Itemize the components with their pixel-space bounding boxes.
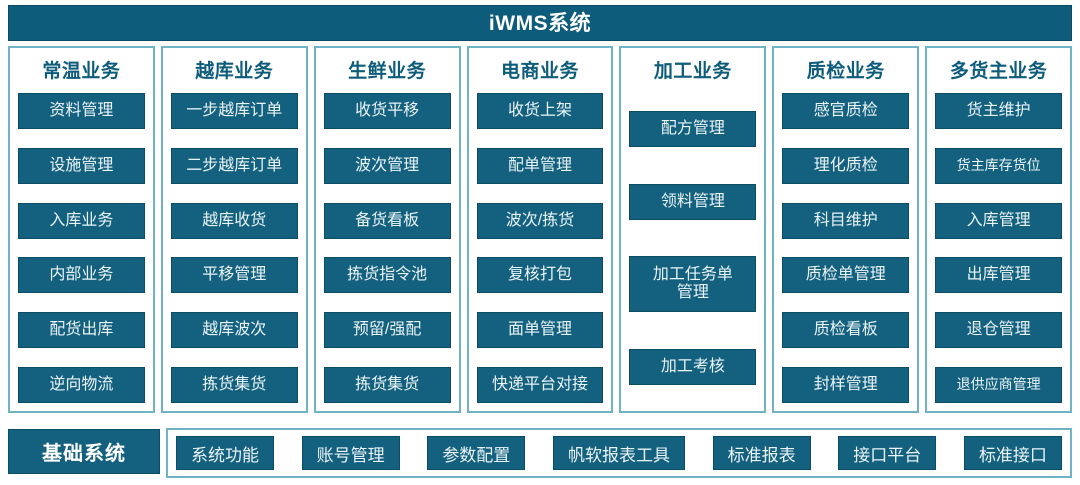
module-tile[interactable]: 领料管理 <box>629 184 756 220</box>
column-item-list: 一步越库订单二步越库订单越库收货平移管理越库波次拣货集货 <box>171 93 298 403</box>
system-title-bar: iWMS系统 <box>8 5 1072 41</box>
module-tile[interactable]: 货主库存货位 <box>935 148 1062 184</box>
column-title: 质检业务 <box>782 55 909 93</box>
business-column-processing: 加工业务配方管理领料管理加工任务单 管理加工考核 <box>619 46 766 413</box>
module-tile[interactable]: 二步越库订单 <box>171 148 298 184</box>
iwms-architecture-diagram: iWMS系统 常温业务资料管理设施管理入库业务内部业务配货出库逆向物流越库业务一… <box>0 0 1080 485</box>
column-item-list: 配方管理领料管理加工任务单 管理加工考核 <box>629 93 756 403</box>
base-system-button[interactable]: 账号管理 <box>302 436 400 470</box>
business-column-ecommerce: 电商业务收货上架配单管理波次/拣货复核打包面单管理快递平台对接 <box>467 46 614 413</box>
module-tile[interactable]: 预留/强配 <box>324 312 451 348</box>
column-item-list: 货主维护货主库存货位入库管理出库管理退仓管理退供应商管理 <box>935 93 1062 403</box>
base-system-button[interactable]: 标准接口 <box>964 436 1062 470</box>
module-tile[interactable]: 波次/拣货 <box>477 203 604 239</box>
module-tile[interactable]: 加工任务单 管理 <box>629 256 756 312</box>
module-tile[interactable]: 波次管理 <box>324 148 451 184</box>
business-column-fresh: 生鲜业务收货平移波次管理备货看板拣货指令池预留/强配拣货集货 <box>314 46 461 413</box>
base-system-button[interactable]: 参数配置 <box>427 436 525 470</box>
module-tile[interactable]: 配方管理 <box>629 111 756 147</box>
column-title: 多货主业务 <box>935 55 1062 93</box>
module-tile[interactable]: 加工考核 <box>629 349 756 385</box>
module-tile[interactable]: 质检看板 <box>782 312 909 348</box>
module-tile[interactable]: 科目维护 <box>782 203 909 239</box>
business-column-crossdock: 越库业务一步越库订单二步越库订单越库收货平移管理越库波次拣货集货 <box>161 46 308 413</box>
module-tile[interactable]: 设施管理 <box>18 148 145 184</box>
base-system-row: 基础系统 系统功能账号管理参数配置帆软报表工具标准报表接口平台标准接口 <box>8 428 1072 478</box>
column-title: 加工业务 <box>629 55 756 93</box>
module-tile[interactable]: 退仓管理 <box>935 312 1062 348</box>
column-item-list: 收货上架配单管理波次/拣货复核打包面单管理快递平台对接 <box>477 93 604 403</box>
module-tile[interactable]: 理化质检 <box>782 148 909 184</box>
module-tile[interactable]: 逆向物流 <box>18 367 145 403</box>
module-tile[interactable]: 越库波次 <box>171 312 298 348</box>
module-tile[interactable]: 拣货集货 <box>324 367 451 403</box>
column-title: 常温业务 <box>18 55 145 93</box>
business-column-quality: 质检业务感官质检理化质检科目维护质检单管理质检看板封样管理 <box>772 46 919 413</box>
module-tile[interactable]: 复核打包 <box>477 257 604 293</box>
business-columns: 常温业务资料管理设施管理入库业务内部业务配货出库逆向物流越库业务一步越库订单二步… <box>8 46 1072 413</box>
module-tile[interactable]: 入库业务 <box>18 203 145 239</box>
base-system-button[interactable]: 标准报表 <box>713 436 811 470</box>
base-system-panel: 系统功能账号管理参数配置帆软报表工具标准报表接口平台标准接口 <box>166 428 1072 478</box>
module-tile[interactable]: 配货出库 <box>18 312 145 348</box>
module-tile[interactable]: 出库管理 <box>935 257 1062 293</box>
module-tile[interactable]: 快递平台对接 <box>477 367 604 403</box>
module-tile[interactable]: 配单管理 <box>477 148 604 184</box>
module-tile[interactable]: 货主维护 <box>935 93 1062 129</box>
base-system-button[interactable]: 帆软报表工具 <box>553 436 685 470</box>
column-item-list: 感官质检理化质检科目维护质检单管理质检看板封样管理 <box>782 93 909 403</box>
module-tile[interactable]: 拣货集货 <box>171 367 298 403</box>
module-tile[interactable]: 面单管理 <box>477 312 604 348</box>
module-tile[interactable]: 越库收货 <box>171 203 298 239</box>
base-system-button[interactable]: 系统功能 <box>176 436 274 470</box>
module-tile[interactable]: 资料管理 <box>18 93 145 129</box>
column-title: 越库业务 <box>171 55 298 93</box>
module-tile[interactable]: 收货平移 <box>324 93 451 129</box>
module-tile[interactable]: 一步越库订单 <box>171 93 298 129</box>
business-column-multi-owner: 多货主业务货主维护货主库存货位入库管理出库管理退仓管理退供应商管理 <box>925 46 1072 413</box>
module-tile[interactable]: 拣货指令池 <box>324 257 451 293</box>
base-system-label: 基础系统 <box>8 429 160 474</box>
module-tile[interactable]: 内部业务 <box>18 257 145 293</box>
module-tile[interactable]: 备货看板 <box>324 203 451 239</box>
column-title: 电商业务 <box>477 55 604 93</box>
module-tile[interactable]: 平移管理 <box>171 257 298 293</box>
module-tile[interactable]: 收货上架 <box>477 93 604 129</box>
module-tile[interactable]: 封样管理 <box>782 367 909 403</box>
module-tile[interactable]: 退供应商管理 <box>935 367 1062 403</box>
column-item-list: 资料管理设施管理入库业务内部业务配货出库逆向物流 <box>18 93 145 403</box>
module-tile[interactable]: 质检单管理 <box>782 257 909 293</box>
base-system-button[interactable]: 接口平台 <box>838 436 936 470</box>
business-column-ambient: 常温业务资料管理设施管理入库业务内部业务配货出库逆向物流 <box>8 46 155 413</box>
module-tile[interactable]: 感官质检 <box>782 93 909 129</box>
column-item-list: 收货平移波次管理备货看板拣货指令池预留/强配拣货集货 <box>324 93 451 403</box>
module-tile[interactable]: 入库管理 <box>935 203 1062 239</box>
system-title: iWMS系统 <box>489 13 591 34</box>
column-title: 生鲜业务 <box>324 55 451 93</box>
